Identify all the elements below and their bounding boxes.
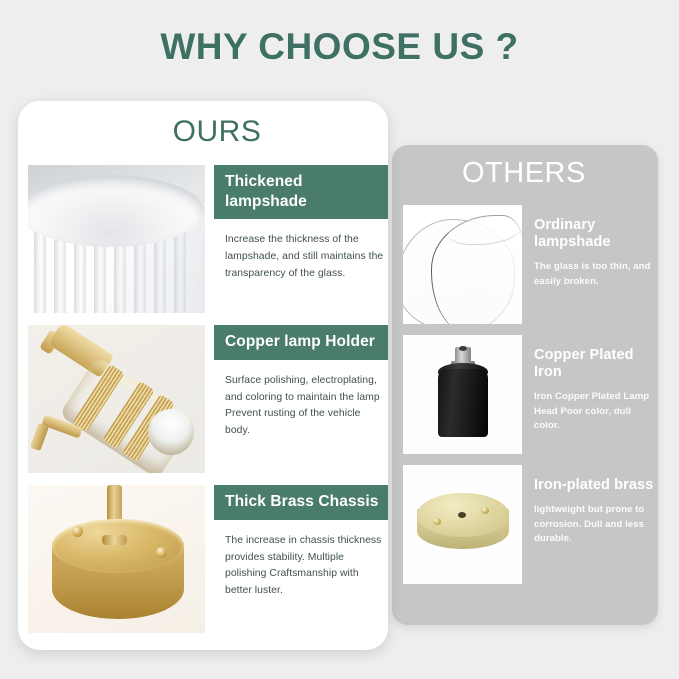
- clear-thin-glass-shade-photo: [403, 205, 522, 324]
- others-item-description: lightweight but prone to corrosion. Dull…: [534, 503, 656, 546]
- ours-item-text: Copper lamp Holder Surface polishing, el…: [205, 325, 388, 440]
- list-item: Copper Plated Iron Iron Copper Plated La…: [392, 335, 658, 465]
- ours-item-description: Surface polishing, electroplating, and c…: [214, 373, 388, 440]
- others-item-text: Copper Plated Iron Iron Copper Plated La…: [522, 335, 658, 433]
- others-item-text: Iron-plated brass lightweight but prone …: [522, 465, 656, 546]
- list-item: Thickened lampshade Increase the thickne…: [18, 165, 388, 325]
- others-item-description: The glass is too thin, and easily broken…: [534, 260, 656, 289]
- gold-plated-disc-photo: [403, 465, 522, 584]
- list-item: Copper lamp Holder Surface polishing, el…: [18, 325, 388, 485]
- list-item: Thick Brass Chassis The increase in chas…: [18, 485, 388, 645]
- others-item-title: Ordinary lampshade: [534, 217, 658, 251]
- ours-heading: OURS: [18, 115, 388, 149]
- ours-item-title: Thick Brass Chassis: [214, 485, 388, 520]
- list-item: Iron-plated brass lightweight but prone …: [392, 465, 658, 595]
- others-item-description: Iron Copper Plated Lamp Head Poor color,…: [534, 390, 656, 433]
- ours-comparison-card: OURS Thickened lampshade Increase the th…: [18, 101, 388, 650]
- ours-item-text: Thickened lampshade Increase the thickne…: [205, 165, 388, 283]
- others-comparison-card: OTHERS Ordinary lampshade The glass is t…: [392, 145, 658, 625]
- ours-feature-list: Thickened lampshade Increase the thickne…: [18, 165, 388, 645]
- others-item-text: Ordinary lampshade The glass is too thin…: [522, 205, 658, 289]
- others-heading: OTHERS: [392, 157, 658, 190]
- others-feature-list: Ordinary lampshade The glass is too thin…: [392, 205, 658, 595]
- ours-item-text: Thick Brass Chassis The increase in chas…: [205, 485, 388, 600]
- brass-chassis-base-photo: [28, 485, 205, 633]
- black-iron-socket-photo: [403, 335, 522, 454]
- ours-item-title: Thickened lampshade: [214, 165, 388, 219]
- others-item-title: Iron-plated brass: [534, 477, 656, 494]
- page-title: WHY CHOOSE US ?: [0, 26, 679, 68]
- ours-item-description: Increase the thickness of the lampshade,…: [214, 232, 388, 283]
- ours-item-title: Copper lamp Holder: [214, 325, 388, 360]
- ours-item-description: The increase in chassis thickness provid…: [214, 533, 388, 600]
- brass-lamp-holder-photo: [28, 325, 205, 473]
- list-item: Ordinary lampshade The glass is too thin…: [392, 205, 658, 335]
- others-item-title: Copper Plated Iron: [534, 347, 658, 381]
- white-fluted-lampshade-photo: [28, 165, 205, 313]
